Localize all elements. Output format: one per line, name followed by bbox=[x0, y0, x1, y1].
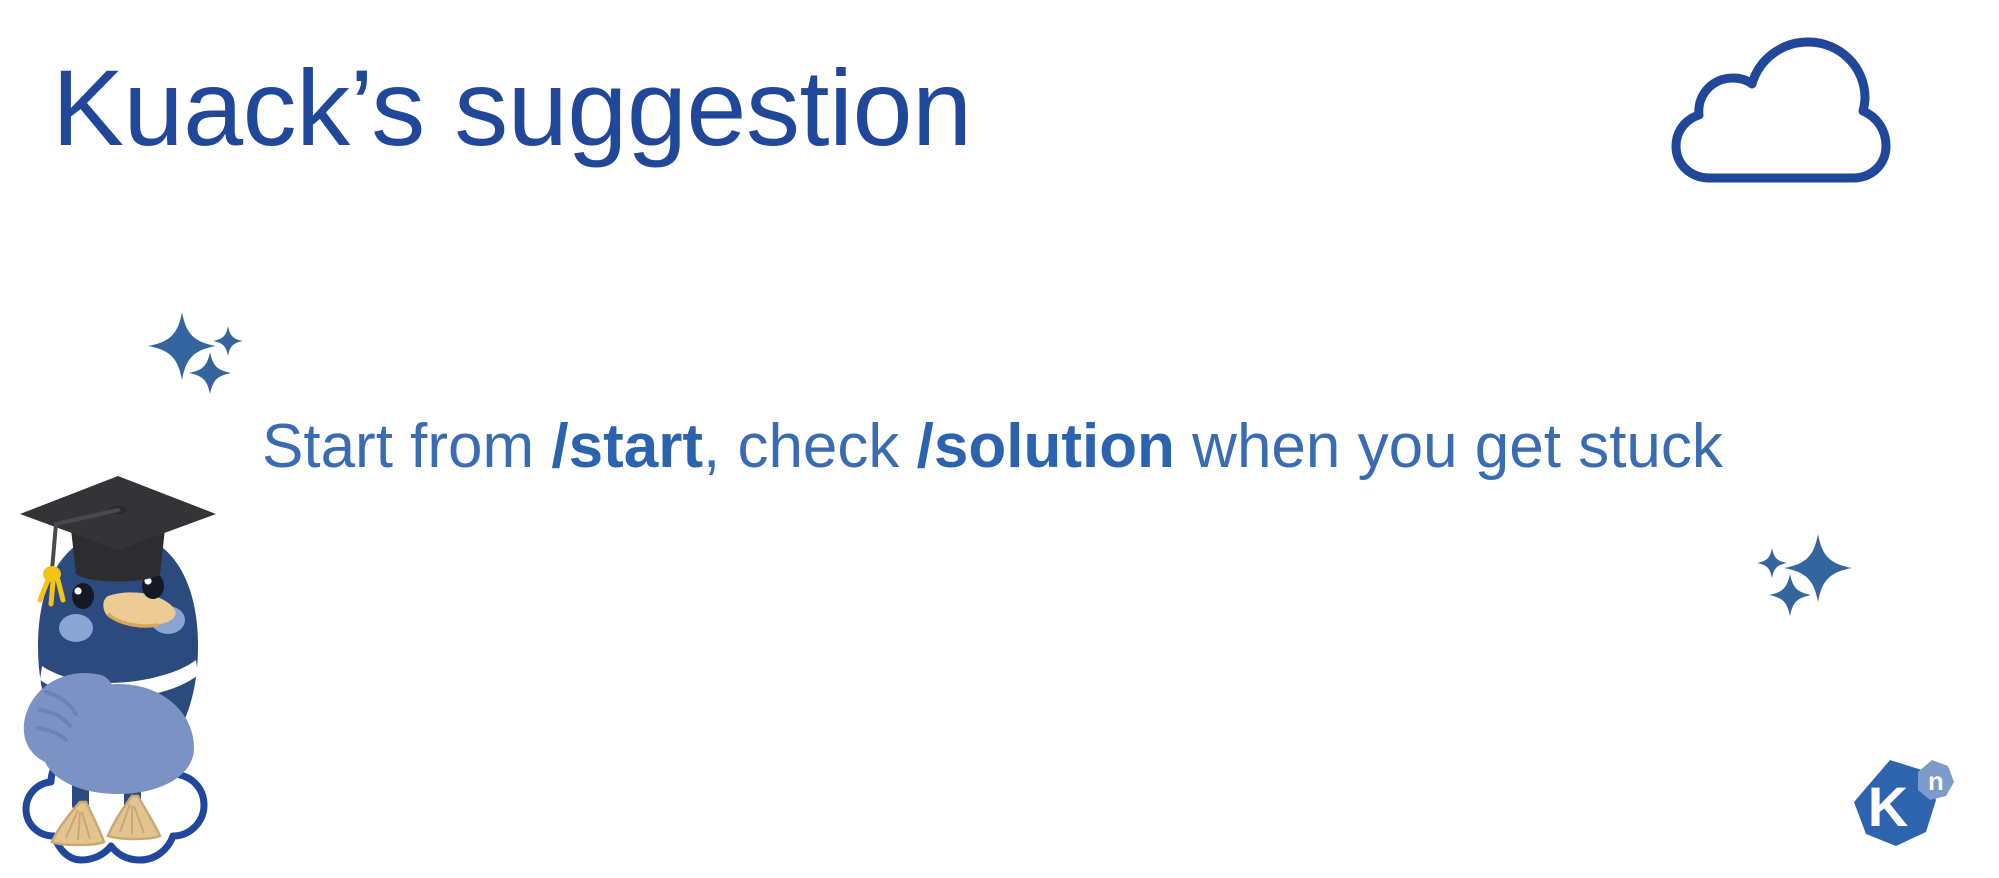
body-text-part-1: Start from bbox=[262, 412, 551, 481]
logo-badge-heptagon: n bbox=[1918, 760, 1954, 800]
kn-logo: K n bbox=[1846, 754, 1958, 858]
logo-letter-k: K bbox=[1868, 775, 1908, 838]
body-text-part-2: , check bbox=[703, 412, 917, 481]
page-title: Kuack’s suggestion bbox=[52, 48, 972, 169]
slide-canvas: Kuack’s suggestion bbox=[0, 0, 1999, 878]
body-text: Start from /start, check /solution when … bbox=[262, 408, 1723, 486]
kuack-duck-mascot bbox=[8, 470, 228, 878]
cloud-outline-icon bbox=[1664, 30, 1888, 190]
command-solution: /solution bbox=[917, 412, 1175, 481]
command-start: /start bbox=[551, 412, 703, 481]
logo-letter-n: n bbox=[1928, 766, 1944, 796]
sparkles-icon bbox=[148, 308, 248, 394]
sparkles-icon bbox=[1752, 530, 1852, 616]
body-text-part-3: when you get stuck bbox=[1175, 412, 1723, 481]
